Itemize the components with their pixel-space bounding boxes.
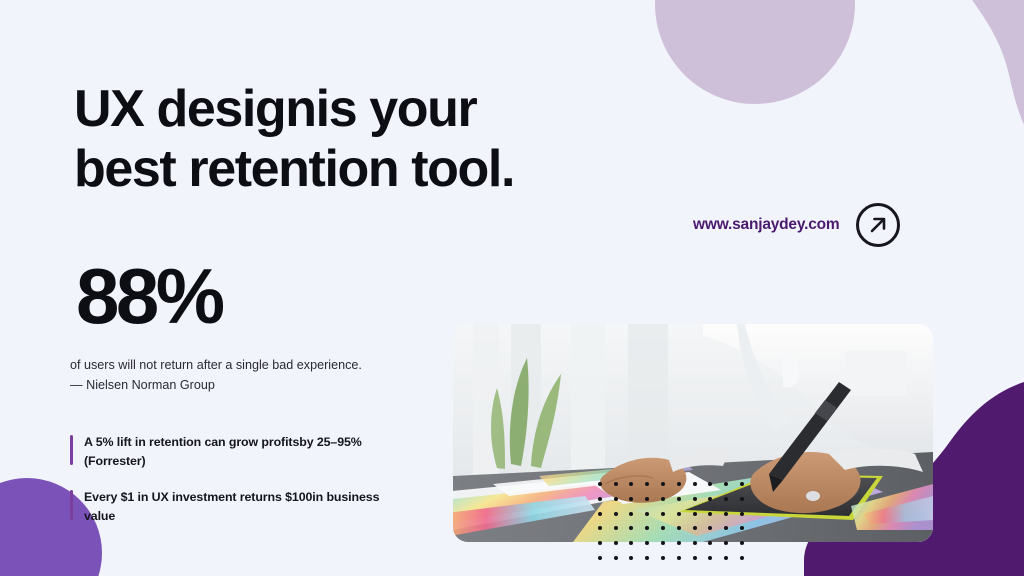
stat-caption-text: of users will not return after a single …	[70, 358, 362, 372]
stat-caption: of users will not return after a single …	[70, 356, 470, 395]
list-item-label: A 5% lift in retention can grow profitsb…	[84, 435, 362, 468]
website-link[interactable]: www.sanjaydey.com	[693, 203, 900, 247]
bullet-bar-icon	[70, 435, 73, 465]
stat-value: 88%	[76, 257, 222, 335]
page-title: UX designis your best retention tool.	[74, 79, 634, 200]
headline-line-1: UX designis your	[74, 79, 634, 139]
headline-line-2: best retention tool.	[74, 139, 634, 199]
list-item: A 5% lift in retention can grow profitsb…	[70, 433, 400, 470]
list-item-label: Every $1 in UX investment returns $100in…	[84, 490, 379, 523]
bullet-list: A 5% lift in retention can grow profitsb…	[70, 433, 400, 525]
bullet-bar-icon	[70, 490, 73, 520]
slide-canvas: UX designis your best retention tool. ww…	[0, 0, 1024, 576]
stat-source: — Nielsen Norman Group	[70, 376, 470, 396]
dot-grid-decoration	[592, 477, 750, 565]
lavender-semicircle-shape	[655, 0, 855, 104]
lavender-wave-shape	[824, 0, 1024, 150]
list-item: Every $1 in UX investment returns $100in…	[70, 488, 400, 525]
arrow-up-right-icon[interactable]	[856, 203, 900, 247]
website-url-label: www.sanjaydey.com	[693, 216, 840, 234]
